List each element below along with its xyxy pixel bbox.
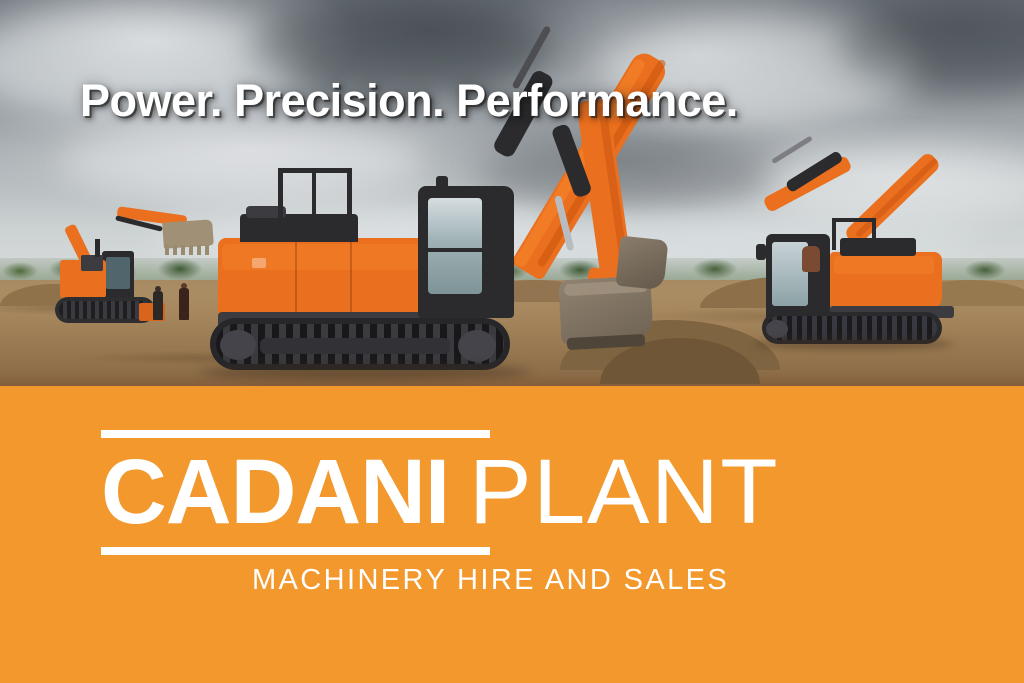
track-drive-sprocket [458, 330, 496, 362]
cab-beacon [436, 176, 448, 188]
cab-mirror [756, 244, 766, 260]
body-highlight [834, 256, 934, 274]
track-shoe-pattern [767, 316, 937, 340]
cab-mirror [498, 188, 512, 210]
site-worker [178, 283, 190, 320]
hydraulic-rod [771, 136, 813, 165]
logo-rule-bottom [101, 547, 490, 555]
logo-lockup: CADANI PLANT [101, 430, 801, 555]
track-shoe-pattern [59, 301, 151, 319]
handrail-post [347, 168, 352, 218]
engine-housing [81, 255, 103, 271]
worker-body [179, 288, 189, 320]
cab-window [106, 257, 130, 289]
exhaust-stack [95, 239, 100, 257]
logo-subtitle: MACHINERY HIRE AND SALES [252, 564, 729, 597]
body-panel-seam [295, 242, 297, 312]
machine-ground-shadow [200, 364, 530, 380]
handrail-top [832, 218, 876, 222]
cab-front-window [428, 198, 482, 294]
hero-photo: Power. Precision. Performance. [0, 0, 1024, 386]
site-worker [152, 286, 164, 320]
background-excavator-right [650, 120, 980, 340]
hero-tagline: Power. Precision. Performance. [80, 78, 738, 123]
excavator-stick [762, 155, 853, 213]
body-badge [252, 258, 266, 268]
logo-rule-top [101, 430, 490, 438]
cab-pillar [482, 190, 490, 316]
track-idler-wheel [766, 320, 788, 338]
engine-hood [840, 238, 916, 256]
handrail-post [832, 218, 836, 250]
track-idler-wheel [220, 330, 256, 360]
machine-ground-shadow [754, 338, 954, 350]
cab-window-divider [428, 248, 482, 252]
brand-logo-band: CADANI PLANT MACHINERY HIRE AND SALES [0, 386, 1024, 683]
cab-occupant [802, 246, 820, 272]
handrail-post [312, 168, 316, 218]
handrail-post [278, 168, 283, 218]
track-roller-frame [260, 338, 450, 354]
marketing-banner: Power. Precision. Performance. CADANI PL… [0, 0, 1024, 683]
foreground-excavator-center [190, 0, 710, 386]
wordmark-secondary: PLANT [469, 451, 779, 534]
body-panel-seam [350, 242, 352, 312]
wordmark-primary: CADANI [101, 451, 449, 534]
deck-handrail [278, 168, 352, 220]
wordmark: CADANI PLANT [101, 447, 801, 537]
worker-body [153, 291, 163, 320]
